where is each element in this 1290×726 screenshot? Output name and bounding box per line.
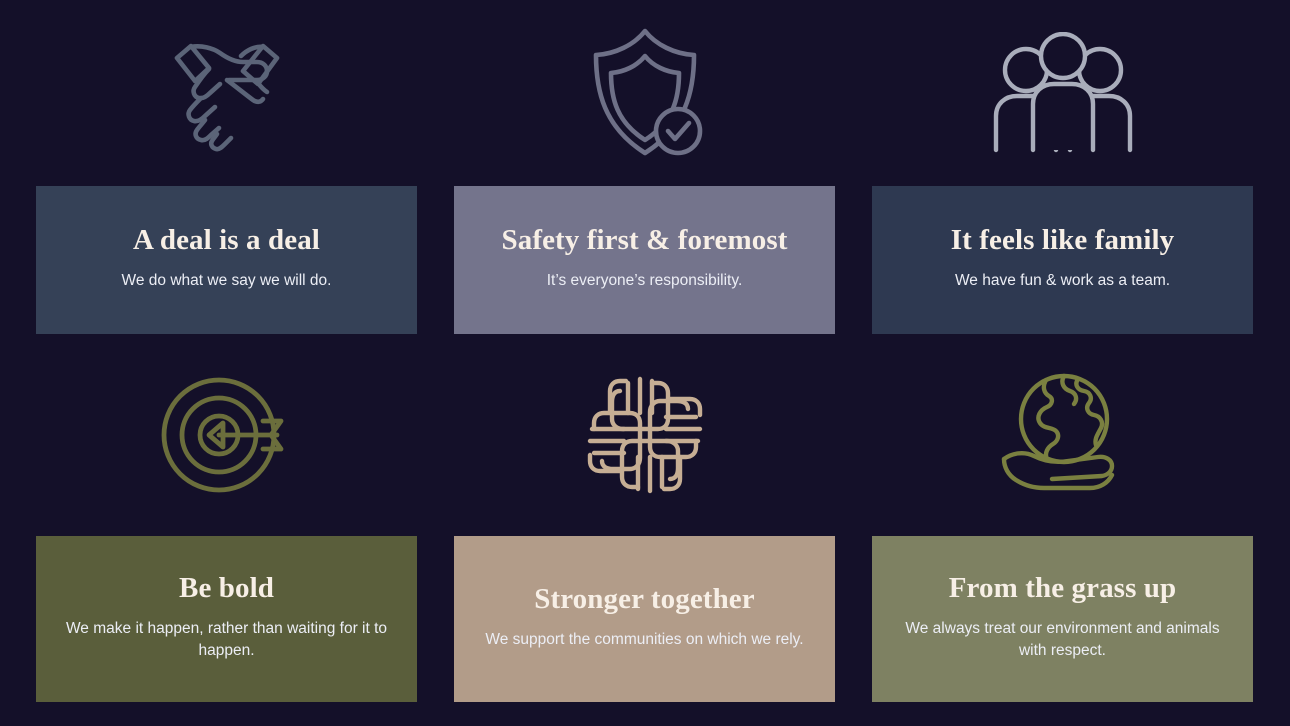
value-icon-wrap bbox=[454, 0, 835, 186]
value-title: Be bold bbox=[179, 572, 274, 604]
value-description: We do what we say we will do. bbox=[122, 270, 332, 292]
shield-check-icon bbox=[582, 23, 708, 163]
people-group-icon bbox=[990, 32, 1136, 154]
interlocking-hands-icon bbox=[580, 369, 710, 501]
value-icon-wrap bbox=[454, 334, 835, 536]
value-title: Safety first & foremost bbox=[501, 224, 787, 256]
value-card-safety-first-and-foremost[interactable]: Safety first & foremost It’s everyone’s … bbox=[454, 0, 835, 334]
value-icon-wrap bbox=[872, 0, 1253, 186]
value-text-card: Be bold We make it happen, rather than w… bbox=[36, 536, 417, 702]
values-grid: A deal is a deal We do what we say we wi… bbox=[36, 0, 1253, 726]
value-title: From the grass up bbox=[949, 572, 1177, 604]
value-description: We support the communities on which we r… bbox=[485, 629, 803, 651]
value-card-from-the-grass-up[interactable]: From the grass up We always treat our en… bbox=[872, 334, 1253, 700]
value-text-card: A deal is a deal We do what we say we wi… bbox=[36, 186, 417, 334]
handshake-icon bbox=[157, 28, 297, 158]
company-values-section: A deal is a deal We do what we say we wi… bbox=[0, 0, 1290, 726]
value-card-it-feels-like-family[interactable]: It feels like family We have fun & work … bbox=[872, 0, 1253, 334]
value-text-card: Safety first & foremost It’s everyone’s … bbox=[454, 186, 835, 334]
value-description: It’s everyone’s responsibility. bbox=[547, 270, 743, 292]
value-title: Stronger together bbox=[534, 583, 755, 615]
target-arrow-icon bbox=[157, 373, 297, 497]
value-card-be-bold[interactable]: Be bold We make it happen, rather than w… bbox=[36, 334, 417, 700]
value-title: It feels like family bbox=[951, 224, 1174, 256]
value-card-stronger-together[interactable]: Stronger together We support the communi… bbox=[454, 334, 835, 700]
value-title: A deal is a deal bbox=[133, 224, 320, 256]
value-text-card: Stronger together We support the communi… bbox=[454, 536, 835, 702]
value-icon-wrap bbox=[36, 0, 417, 186]
value-text-card: It feels like family We have fun & work … bbox=[872, 186, 1253, 334]
value-card-a-deal-is-a-deal[interactable]: A deal is a deal We do what we say we wi… bbox=[36, 0, 417, 334]
globe-in-hand-icon bbox=[990, 371, 1136, 499]
value-icon-wrap bbox=[36, 334, 417, 536]
value-description: We always treat our environment and anim… bbox=[898, 618, 1227, 662]
value-description: We make it happen, rather than waiting f… bbox=[62, 618, 391, 662]
value-description: We have fun & work as a team. bbox=[955, 270, 1170, 292]
value-icon-wrap bbox=[872, 334, 1253, 536]
value-text-card: From the grass up We always treat our en… bbox=[872, 536, 1253, 702]
